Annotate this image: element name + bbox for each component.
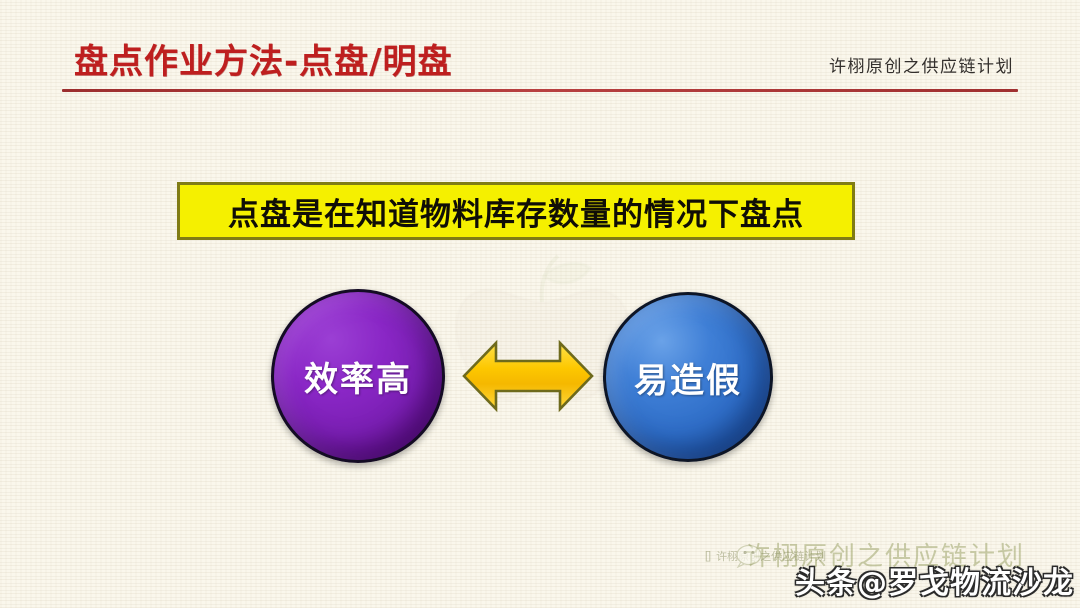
channel-watermark: 头条@罗戈物流沙龙 bbox=[795, 558, 1074, 602]
wechat-bracket-glyph: [] bbox=[705, 550, 711, 562]
bubble-fraud-label: 易造假 bbox=[634, 353, 742, 402]
wechat-icon bbox=[735, 544, 769, 568]
bubble-efficiency: 效率高 bbox=[271, 289, 445, 463]
brand-watermark: 许栩原创之供应链计划 bbox=[745, 536, 1025, 573]
header-divider-rule bbox=[62, 89, 1018, 92]
wechat-watermark: [] 许栩原创之供应链计划 bbox=[705, 548, 826, 564]
slide-canvas: 盘点作业方法-点盘/明盘 许栩原创之供应链计划 点盘是在知道物料库存数量的情况下… bbox=[0, 0, 1080, 608]
header-byline: 许栩原创之供应链计划 bbox=[829, 52, 1014, 77]
bubble-efficiency-label: 效率高 bbox=[304, 352, 412, 401]
page-title: 盘点作业方法-点盘/明盘 bbox=[74, 34, 453, 83]
double-headed-arrow-icon bbox=[462, 334, 594, 418]
callout-banner: 点盘是在知道物料库存数量的情况下盘点 bbox=[177, 182, 855, 240]
bubble-fraud: 易造假 bbox=[603, 292, 773, 462]
wechat-watermark-text: 许栩原创之供应链计划 bbox=[716, 548, 826, 564]
callout-banner-text: 点盘是在知道物料库存数量的情况下盘点 bbox=[228, 189, 804, 234]
